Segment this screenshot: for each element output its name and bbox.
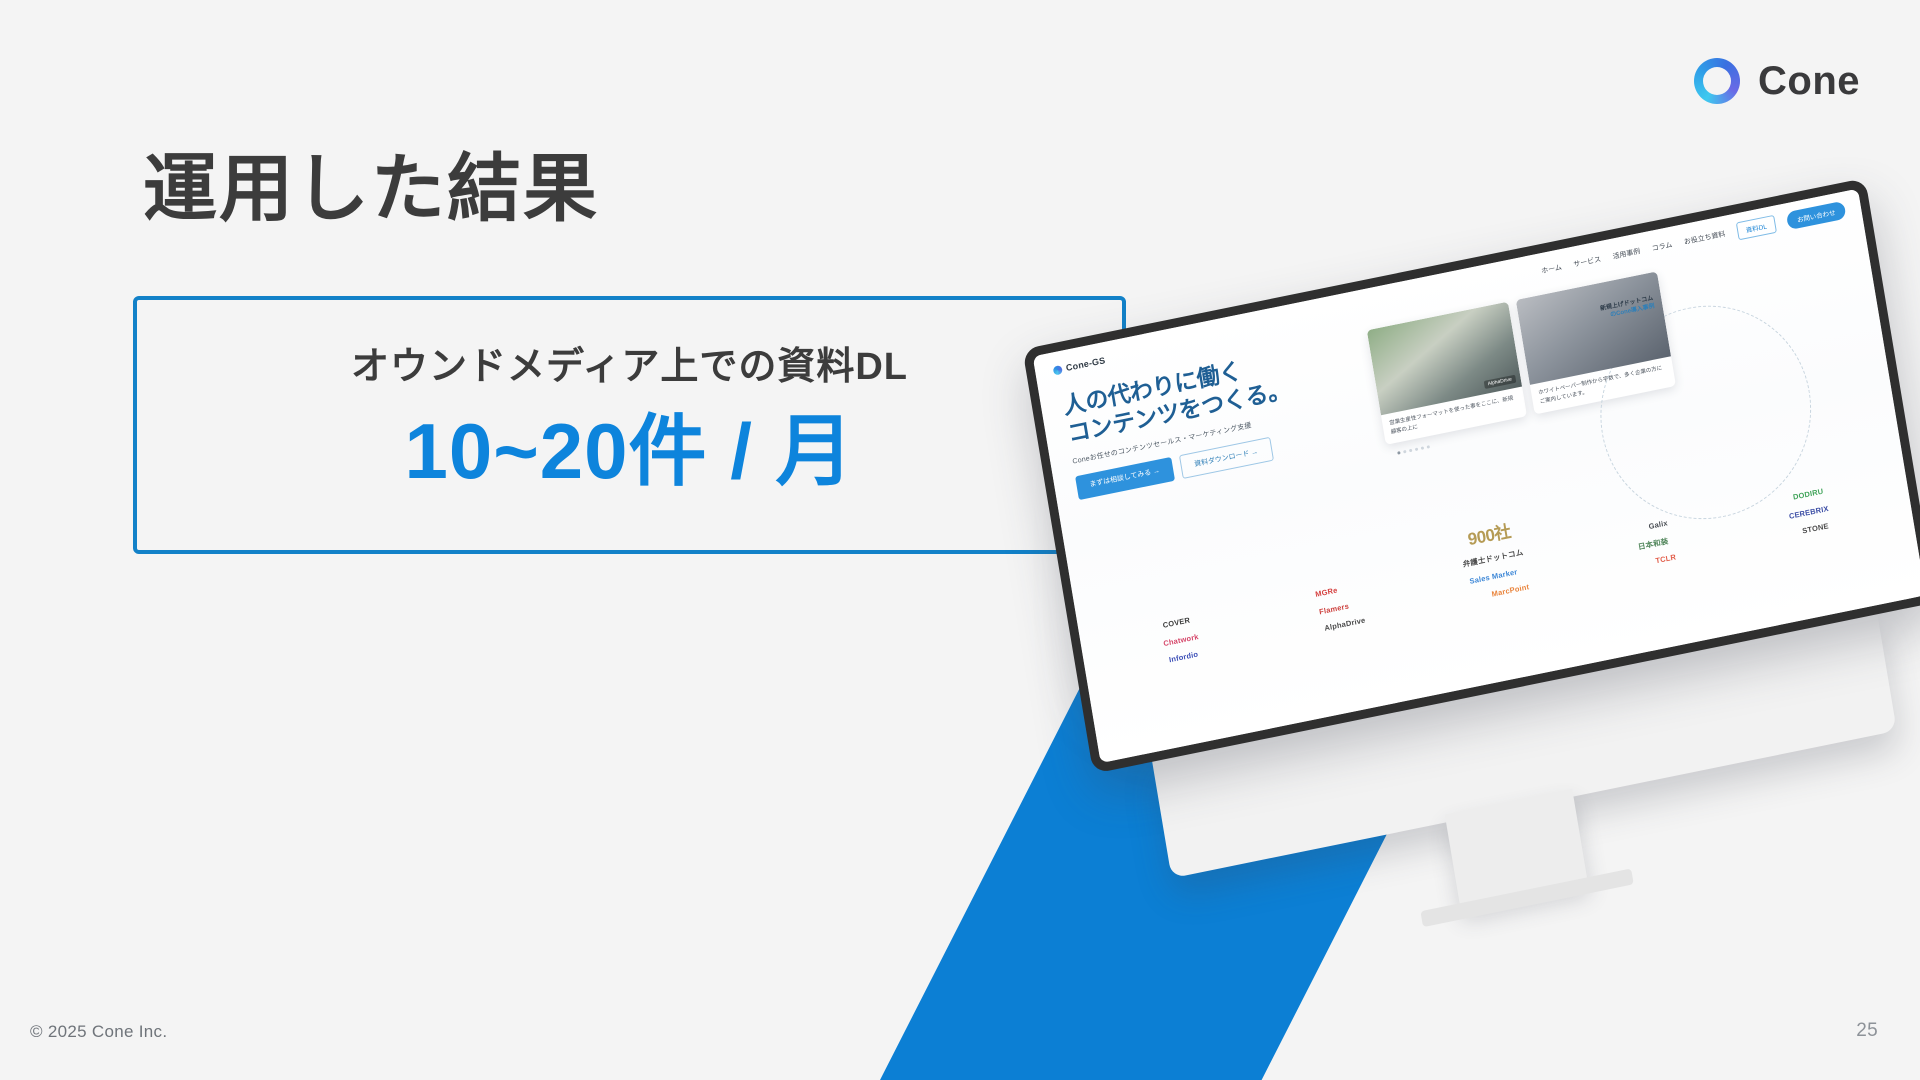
monitor-mockup: Cone-GS ホーム サービス 活用事例 コラム お役立ち資料 資料DL お問… [1022,178,1920,902]
page-title: 運用した結果 [143,145,599,234]
logo-wall-row-2: Chatwork Flamers Sales Marker 日本和装 CEREB… [1102,490,1890,661]
brand-name: Cone [1758,61,1860,101]
site-hero-primary-cta[interactable]: まずは相談してみる → [1075,457,1175,500]
cone-ring-icon [1694,58,1740,104]
slide-root: Cone 運用した結果 オウンドメディア上での資料DL 10~20件 / 月 C… [0,0,1920,1080]
partner-logo: Chatwork [1163,632,1200,648]
site-nav-item-service[interactable]: サービス [1573,254,1602,269]
partner-logo: CEREBRIX [1788,504,1829,521]
site-logo-dot-icon [1053,364,1063,375]
partner-logo: Flamers [1318,601,1349,616]
brand-logo: Cone [1694,58,1860,104]
site-hero-secondary-cta[interactable]: 資料ダウンロード → [1179,437,1274,479]
partner-logo: Sales Marker [1469,567,1518,586]
metric-callout-box: オウンドメディア上での資料DL 10~20件 / 月 [133,296,1126,554]
partner-logo: DODIRU [1792,486,1824,501]
partner-logo: STONE [1802,521,1830,535]
case-card-tag: AlphaDrive [1483,375,1516,389]
site-hero: 人の代わりに働く コンテンツをつくる。 Coneお任せのコンテンツセールス・マー… [1037,215,1883,511]
site-nav-item-cases[interactable]: 活用事例 [1612,246,1641,261]
copyright-text: © 2025 Cone Inc. [30,1022,167,1042]
partner-logo: COVER [1162,615,1191,629]
metric-label: オウンドメディア上での資料DL [351,345,908,391]
logo-wall-count-value: 900社 [1466,522,1512,549]
site-nav-item-column[interactable]: コラム [1651,240,1673,254]
partner-logo: MarcPoint [1491,582,1530,598]
partner-logo: Galix [1648,518,1668,531]
partner-logo: MGRe [1315,585,1339,598]
case-card[interactable]: AlphaDrive 営業生産性フォーマットを使った事をここに、新規顧客の上に [1367,302,1527,445]
page-number: 25 [1856,1020,1878,1042]
partner-logo: 日本和装 [1637,535,1669,552]
partner-logo: Infordio [1168,649,1198,664]
partner-logo: TCLR [1655,552,1677,565]
case-card-overlay: 新規上げドットコム のCone導入事例 [1600,295,1656,322]
partner-logo: AlphaDrive [1324,615,1366,632]
site-nav-item-home[interactable]: ホーム [1541,262,1563,276]
metric-value: 10~20件 / 月 [404,405,854,499]
logo-wall-row-1: COVER MGRe 弁護士ドットコム Galix DODIRU [1099,473,1887,644]
